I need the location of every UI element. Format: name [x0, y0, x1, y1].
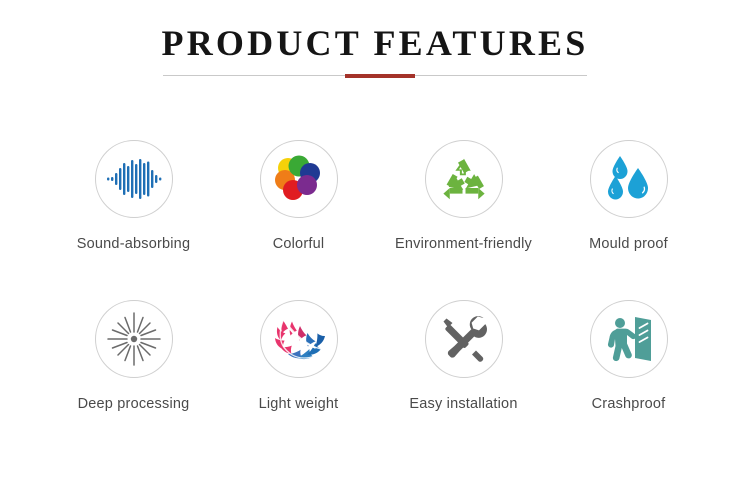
- water-drops-icon: [605, 154, 653, 204]
- feature-item-light-weight[interactable]: Light weight: [216, 300, 381, 460]
- icon-circle: [425, 140, 503, 218]
- feature-item-environment-friendly[interactable]: Environment-friendly: [381, 140, 546, 300]
- title-divider: [163, 73, 587, 79]
- wrench-screwdriver-icon: [439, 314, 489, 364]
- color-circles-icon: [274, 154, 324, 204]
- feature-item-crashproof[interactable]: Crashproof: [546, 300, 711, 460]
- feature-item-sound-absorbing[interactable]: Sound-absorbing: [51, 140, 216, 300]
- feature-item-colorful[interactable]: Colorful: [216, 140, 381, 300]
- icon-circle: [425, 300, 503, 378]
- feature-label: Easy installation: [409, 396, 517, 412]
- features-grid: Sound-absorbing Colorful: [51, 140, 711, 460]
- divider-accent: [345, 74, 415, 78]
- feature-label: Environment-friendly: [395, 236, 532, 252]
- feature-label: Colorful: [273, 236, 325, 252]
- recycle-icon: [440, 155, 488, 203]
- icon-circle: [590, 140, 668, 218]
- person-panel-icon: [603, 313, 655, 365]
- icon-circle: [95, 140, 173, 218]
- feather-icon: [271, 316, 327, 362]
- feature-label: Mould proof: [589, 236, 668, 252]
- feature-item-deep-processing[interactable]: Deep processing: [51, 300, 216, 460]
- icon-circle: [590, 300, 668, 378]
- icon-circle: [95, 300, 173, 378]
- feature-label: Sound-absorbing: [77, 236, 190, 252]
- sound-waveform-icon: [106, 156, 162, 202]
- page-header: PRODUCT FEATURES: [0, 0, 750, 92]
- feature-label: Deep processing: [78, 396, 190, 412]
- feature-label: Light weight: [259, 396, 339, 412]
- page-title: PRODUCT FEATURES: [0, 22, 750, 64]
- feature-item-mould-proof[interactable]: Mould proof: [546, 140, 711, 300]
- product-features-page: PRODUCT FEATURES: [0, 0, 750, 478]
- icon-circle: [260, 140, 338, 218]
- icon-circle: [260, 300, 338, 378]
- starburst-laser-icon: [107, 312, 161, 366]
- feature-label: Crashproof: [592, 396, 666, 412]
- feature-item-easy-installation[interactable]: Easy installation: [381, 300, 546, 460]
